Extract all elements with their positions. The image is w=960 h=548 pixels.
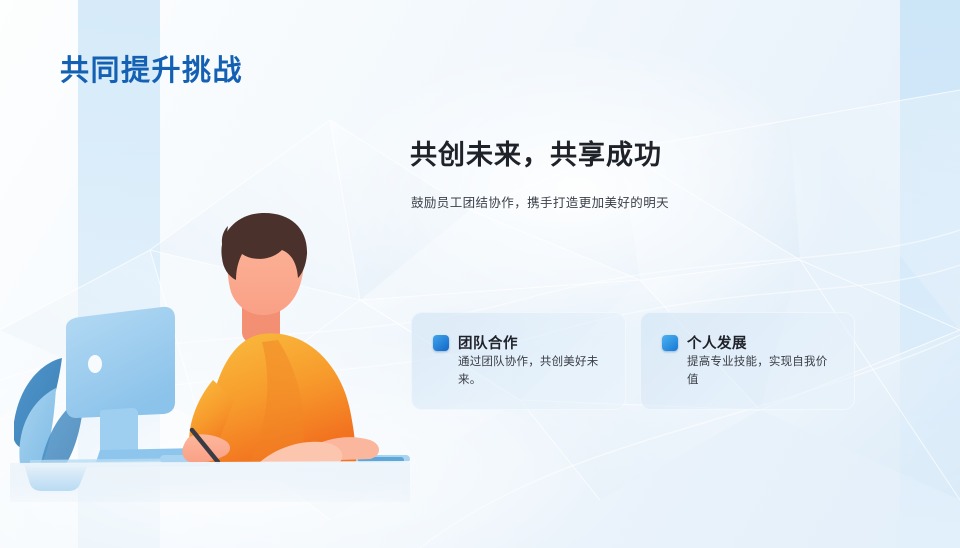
plant-decoration <box>14 358 88 491</box>
blue-rounded-square-icon <box>433 335 449 351</box>
background-glow-top <box>320 40 840 340</box>
slide-title: 共同提升挑战 <box>60 47 243 89</box>
feature-card-title: 团队合作 <box>458 332 518 353</box>
feature-card-team-collaboration[interactable]: 团队合作 通过团队协作，共创美好未来。 <box>411 312 626 410</box>
headline: 共创未来，共享成功 <box>410 133 662 172</box>
desk-items <box>160 455 410 463</box>
feature-card-body: 通过团队协作，共创美好未来。 <box>458 354 610 390</box>
right-accent-band <box>900 0 960 548</box>
person-working-at-desk-illustration <box>10 212 410 502</box>
feature-card-personal-development[interactable]: 个人发展 提高专业技能，实现自我价值 <box>640 312 855 410</box>
person-figure <box>182 213 379 463</box>
feature-card-title: 个人发展 <box>687 332 747 353</box>
monitor <box>30 307 210 468</box>
presentation-slide: 共同提升挑战 共创未来，共享成功 鼓励员工团结协作，携手打造更加美好的明天 团队… <box>0 0 960 548</box>
feature-card-header: 个人发展 <box>662 332 747 353</box>
feature-card-header: 团队合作 <box>433 332 518 353</box>
blue-rounded-square-icon <box>662 335 678 351</box>
feature-card-body: 提高专业技能，实现自我价值 <box>687 354 839 390</box>
subheadline: 鼓励员工团结协作，携手打造更加美好的明天 <box>411 192 669 211</box>
